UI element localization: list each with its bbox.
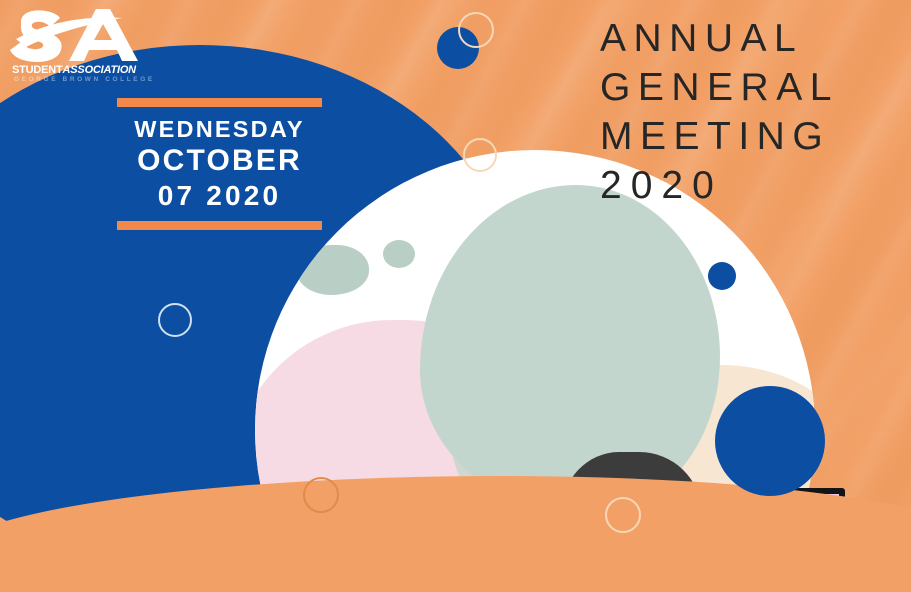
logo-tagline: GEORGE BROWN COLLEGE	[14, 76, 155, 83]
title-line-3: MEETING	[600, 112, 900, 161]
student-association-logo: STUDENTASSOCIATION GEORGE BROWN COLLEGE	[10, 6, 150, 90]
poster-canvas: STUDENTASSOCIATION GEORGE BROWN COLLEGE …	[0, 0, 911, 592]
outline-top-shape	[458, 12, 494, 48]
date-month: OCTOBER	[117, 144, 322, 179]
date-day-year: 07 2020	[117, 179, 322, 213]
title-line-2: GENERAL	[600, 63, 900, 112]
blue-dot-right-shape	[708, 262, 736, 290]
outline-top-mid-shape	[463, 138, 497, 172]
sa-monogram-icon	[10, 6, 138, 64]
date-rule-top	[117, 98, 322, 107]
outline-bottom-shape	[605, 497, 641, 533]
logo-name-bold: STUDENT	[12, 64, 63, 76]
title-line-1: ANNUAL	[600, 14, 900, 63]
date-weekday: WEDNESDAY	[117, 116, 322, 144]
logo-name: STUDENTASSOCIATION	[12, 64, 136, 76]
page-title: ANNUAL GENERAL MEETING 2020	[600, 14, 900, 211]
title-line-4: 2020	[600, 161, 900, 210]
outline-sweater-shape	[303, 477, 339, 513]
sage-dot-large	[297, 245, 369, 295]
blue-circle-large-shape	[715, 386, 825, 496]
sage-dot-small	[383, 240, 415, 268]
date-rule-bottom	[117, 221, 322, 230]
outline-on-blue-shape	[158, 303, 192, 337]
date-text-group: WEDNESDAY OCTOBER 07 2020	[117, 107, 322, 214]
date-block: WEDNESDAY OCTOBER 07 2020	[117, 98, 322, 230]
logo-name-italic: ASSOCIATION	[63, 64, 136, 76]
